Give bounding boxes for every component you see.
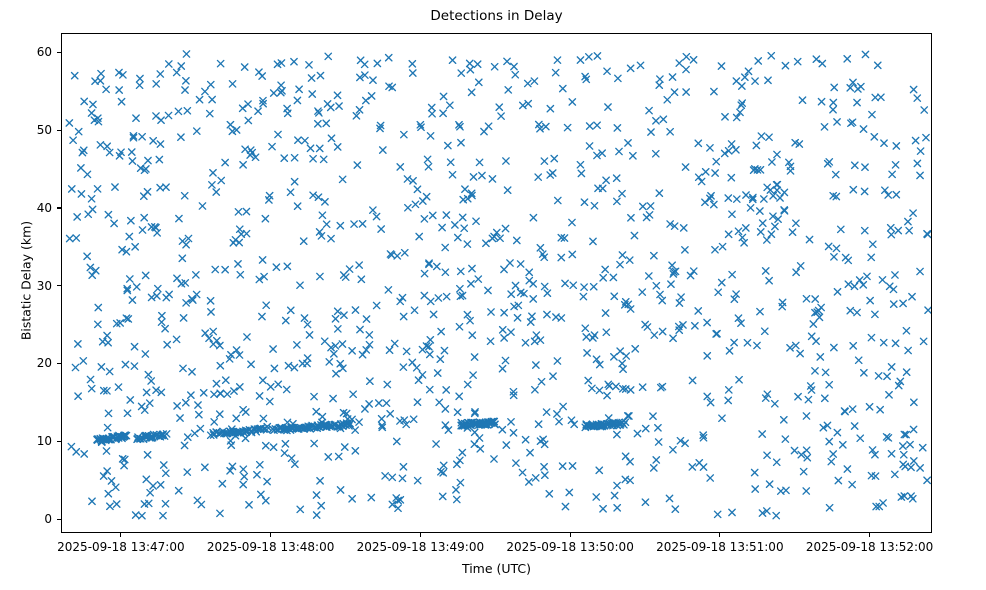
page-title: Detections in Delay — [61, 8, 932, 25]
x-tick-label: 2025-09-18 13:47:00 — [41, 540, 201, 554]
x-tick-mark — [719, 533, 720, 537]
y-tick-mark — [57, 285, 61, 286]
x-tick-label: 2025-09-18 13:49:00 — [340, 540, 500, 554]
x-tick-mark — [869, 533, 870, 537]
x-tick-label: 2025-09-18 13:50:00 — [490, 540, 650, 554]
x-axis-label: Time (UTC) — [61, 562, 932, 576]
y-tick-mark — [57, 130, 61, 131]
y-tick-mark — [57, 363, 61, 364]
x-tick-mark — [120, 533, 121, 537]
y-axis-label: Bistatic Delay (km) — [20, 31, 33, 531]
x-tick-mark — [420, 533, 421, 537]
x-tick-label: 2025-09-18 13:48:00 — [191, 540, 351, 554]
y-tick-mark — [57, 52, 61, 53]
y-tick-mark — [57, 441, 61, 442]
x-tick-mark — [270, 533, 271, 537]
y-tick-mark — [57, 207, 61, 208]
figure-canvas: Detections in Delay 0102030405060 2025-0… — [0, 0, 986, 590]
x-tick-label: 2025-09-18 13:52:00 — [790, 540, 950, 554]
y-tick-mark — [57, 519, 61, 520]
x-tick-label: 2025-09-18 13:51:00 — [640, 540, 800, 554]
x-tick-mark — [570, 533, 571, 537]
plot-area[interactable] — [61, 33, 932, 533]
scatter-series-detections — [62, 34, 931, 532]
